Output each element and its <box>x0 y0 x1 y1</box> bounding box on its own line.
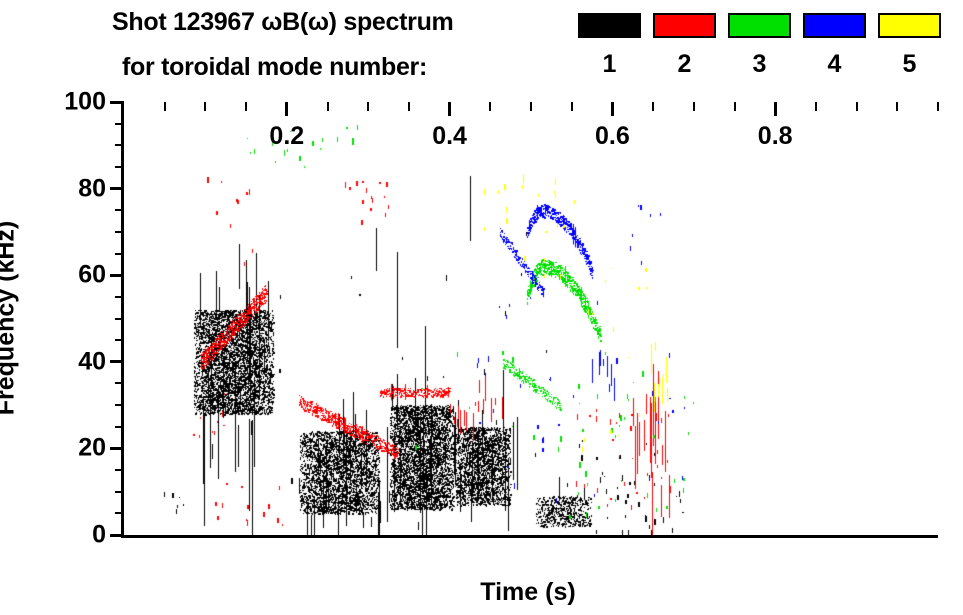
y-tick-minor <box>115 339 124 341</box>
y-tick-label: 20 <box>78 434 106 463</box>
x-tick-minor <box>734 102 736 111</box>
x-tick-minor <box>937 102 939 111</box>
y-tick-minor <box>115 231 124 233</box>
legend-swatch-3 <box>728 13 791 38</box>
x-tick-minor <box>408 102 410 111</box>
y-tick-major <box>110 447 124 450</box>
y-tick-minor <box>115 404 124 406</box>
x-tick-minor <box>327 102 329 111</box>
x-tick-minor <box>164 102 166 111</box>
y-tick-minor <box>115 253 124 255</box>
y-tick-label: 0 <box>92 521 106 550</box>
legend-item-5: 5 <box>878 13 941 77</box>
legend-item-4: 4 <box>803 13 866 77</box>
x-tick-minor <box>693 102 695 111</box>
x-tick-label: 0.6 <box>595 122 630 151</box>
legend-item-3: 3 <box>728 13 791 77</box>
legend-label-4: 4 <box>803 52 866 77</box>
y-tick-major <box>110 274 124 277</box>
x-tick-minor <box>245 102 247 111</box>
x-tick-minor <box>652 102 654 111</box>
y-tick-label: 60 <box>78 261 106 290</box>
legend-swatch-4 <box>803 13 866 38</box>
x-tick-minor <box>815 102 817 111</box>
figure-title-line-2: for toroidal mode number: <box>122 53 427 82</box>
x-tick-minor <box>856 102 858 111</box>
y-tick-label: 40 <box>78 347 106 376</box>
legend-item-2: 2 <box>653 13 716 77</box>
legend-label-1: 1 <box>578 52 641 77</box>
x-tick-minor <box>204 102 206 111</box>
x-tick-major <box>448 102 451 116</box>
x-tick-minor <box>896 102 898 111</box>
y-tick-minor <box>115 512 124 514</box>
y-tick-minor <box>115 382 124 384</box>
y-tick-major <box>110 360 124 363</box>
x-tick-label: 0.8 <box>758 122 793 151</box>
figure-title-line-1: Shot 123967 ωB(ω) spectrum <box>112 8 453 37</box>
y-tick-label: 100 <box>64 88 106 117</box>
spectrogram-canvas <box>124 102 938 535</box>
y-tick-major <box>110 101 124 104</box>
y-tick-label: 80 <box>78 174 106 203</box>
x-tick-label: 0.2 <box>269 122 304 151</box>
y-tick-minor <box>115 296 124 298</box>
x-tick-minor <box>530 102 532 111</box>
legend-item-1: 1 <box>578 13 641 77</box>
x-tick-major <box>285 102 288 116</box>
x-tick-minor <box>489 102 491 111</box>
legend-label-5: 5 <box>878 52 941 77</box>
y-tick-minor <box>115 123 124 125</box>
y-tick-minor <box>115 491 124 493</box>
x-tick-minor <box>367 102 369 111</box>
x-tick-major <box>611 102 614 116</box>
legend-label-2: 2 <box>653 52 716 77</box>
y-tick-minor <box>115 426 124 428</box>
legend-swatch-2 <box>653 13 716 38</box>
spectrogram-figure: Shot 123967 ωB(ω) spectrum for toroidal … <box>0 0 963 615</box>
y-tick-minor <box>115 469 124 471</box>
y-tick-major <box>110 534 124 537</box>
y-tick-minor <box>115 209 124 211</box>
x-axis-title: Time (s) <box>480 578 575 607</box>
legend-swatch-1 <box>578 13 641 38</box>
legend-label-3: 3 <box>728 52 791 77</box>
x-tick-major <box>774 102 777 116</box>
legend: 12345 <box>578 13 950 85</box>
x-tick-minor <box>571 102 573 111</box>
y-axis-title: Frequency (kHz) <box>0 221 21 415</box>
y-tick-minor <box>115 166 124 168</box>
y-tick-minor <box>115 144 124 146</box>
legend-swatch-5 <box>878 13 941 38</box>
plot-area: 0204060801000.20.40.60.8 <box>121 102 938 538</box>
x-tick-label: 0.4 <box>432 122 467 151</box>
y-tick-major <box>110 187 124 190</box>
y-tick-minor <box>115 318 124 320</box>
